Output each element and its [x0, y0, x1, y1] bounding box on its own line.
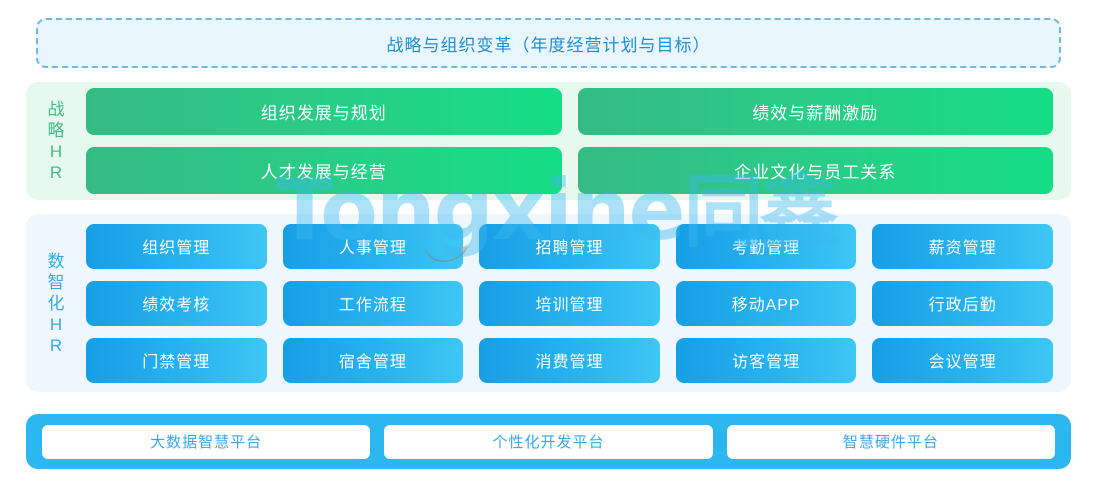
digital-label-char-0: 数 [48, 251, 65, 272]
digital-card[interactable]: 培训管理 [479, 281, 660, 326]
strategy-label-char-2: H [50, 141, 62, 162]
diagram-root: 战略与组织变革（年度经营计划与目标） 战 略 H R 组织发展与规划 绩效与薪酬… [0, 0, 1097, 491]
strategy-cards-area: 组织发展与规划 绩效与薪酬激励 人才发展与经营 企业文化与员工关系 [86, 88, 1071, 194]
digital-card[interactable]: 会议管理 [872, 338, 1053, 383]
digital-card[interactable]: 绩效考核 [86, 281, 267, 326]
digital-card[interactable]: 薪资管理 [872, 224, 1053, 269]
digital-card-row: 绩效考核 工作流程 培训管理 移动APP 行政后勤 [86, 281, 1053, 326]
digital-card-row: 门禁管理 宿舍管理 消费管理 访客管理 会议管理 [86, 338, 1053, 383]
strategy-hr-section: 战 略 H R 组织发展与规划 绩效与薪酬激励 人才发展与经营 企业文化与员工关… [26, 82, 1071, 200]
digital-hr-section: 数 智 化 H R 组织管理 人事管理 招聘管理 考勤管理 薪资管理 绩效考核 … [26, 214, 1071, 392]
banner-title: 战略与组织变革（年度经营计划与目标） [387, 31, 711, 56]
digital-card[interactable]: 宿舍管理 [283, 338, 464, 383]
digital-label-char-2: 化 [48, 293, 65, 314]
digital-cards-area: 组织管理 人事管理 招聘管理 考勤管理 薪资管理 绩效考核 工作流程 培训管理 … [86, 224, 1071, 383]
strategy-hr-label: 战 略 H R [26, 99, 86, 183]
digital-card-row: 组织管理 人事管理 招聘管理 考勤管理 薪资管理 [86, 224, 1053, 269]
digital-card[interactable]: 招聘管理 [479, 224, 660, 269]
strategy-card-row: 人才发展与经营 企业文化与员工关系 [86, 147, 1053, 194]
digital-card[interactable]: 行政后勤 [872, 281, 1053, 326]
platform-card[interactable]: 大数据智慧平台 [42, 425, 370, 459]
digital-card[interactable]: 考勤管理 [676, 224, 857, 269]
digital-card[interactable]: 移动APP [676, 281, 857, 326]
strategy-card[interactable]: 企业文化与员工关系 [578, 147, 1054, 194]
platform-card[interactable]: 智慧硬件平台 [727, 425, 1055, 459]
strategy-card-row: 组织发展与规划 绩效与薪酬激励 [86, 88, 1053, 135]
digital-card[interactable]: 消费管理 [479, 338, 660, 383]
digital-card[interactable]: 访客管理 [676, 338, 857, 383]
platform-bar: 大数据智慧平台 个性化开发平台 智慧硬件平台 [26, 414, 1071, 469]
digital-label-char-3: H [50, 314, 62, 335]
strategy-banner: 战略与组织变革（年度经营计划与目标） [36, 18, 1061, 68]
digital-card[interactable]: 门禁管理 [86, 338, 267, 383]
strategy-card[interactable]: 人才发展与经营 [86, 147, 562, 194]
strategy-label-char-0: 战 [48, 99, 65, 120]
strategy-card[interactable]: 组织发展与规划 [86, 88, 562, 135]
digital-card[interactable]: 工作流程 [283, 281, 464, 326]
strategy-label-char-1: 略 [48, 120, 65, 141]
digital-label-char-1: 智 [48, 272, 65, 293]
digital-hr-label: 数 智 化 H R [26, 251, 86, 356]
platform-card[interactable]: 个性化开发平台 [384, 425, 712, 459]
digital-card[interactable]: 人事管理 [283, 224, 464, 269]
digital-label-char-4: R [50, 335, 62, 356]
digital-card[interactable]: 组织管理 [86, 224, 267, 269]
strategy-label-char-3: R [50, 162, 62, 183]
strategy-card[interactable]: 绩效与薪酬激励 [578, 88, 1054, 135]
